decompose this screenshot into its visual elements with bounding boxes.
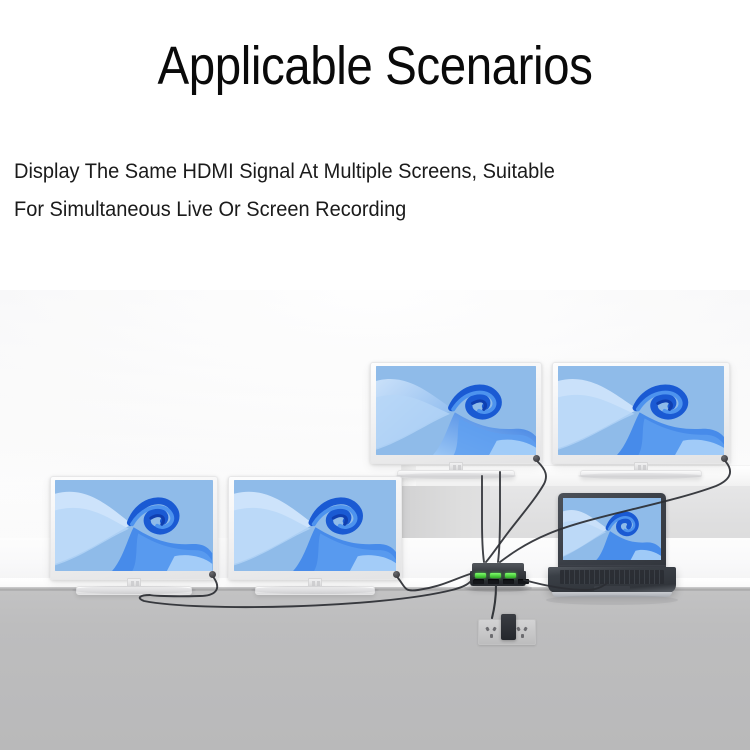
- hub-port-4[interactable]: [518, 579, 529, 584]
- laptop-keyboard[interactable]: [560, 570, 665, 584]
- floor-surface: [0, 591, 750, 750]
- monitor-hdmi-port: [393, 571, 400, 578]
- hub-led-indicators: [475, 573, 516, 578]
- monitor-screen: [558, 366, 725, 456]
- hub-port-3[interactable]: [503, 579, 514, 584]
- hdmi-splitter-hub[interactable]: [470, 563, 526, 587]
- laptop-trackpad[interactable]: [594, 586, 630, 591]
- monitor-hdmi-port: [533, 455, 540, 462]
- laptop-base: [548, 567, 676, 593]
- header-text-block: Applicable Scenarios Display The Same HD…: [0, 0, 750, 290]
- monitor-back-right[interactable]: [552, 362, 730, 464]
- monitor-hdmi-port: [721, 455, 728, 462]
- hub-body: [470, 571, 526, 586]
- hub-led-2: [490, 573, 501, 578]
- monitor-hdmi-port: [209, 571, 216, 578]
- monitor-stand-base: [255, 586, 375, 595]
- windows-bloom-wallpaper: [55, 480, 212, 572]
- source-laptop[interactable]: [548, 493, 676, 597]
- page-root: Applicable Scenarios Display The Same HD…: [0, 0, 750, 750]
- wall-power-socket[interactable]: [478, 619, 536, 645]
- monitor-screen: [55, 480, 212, 572]
- laptop-screen: [563, 498, 661, 560]
- monitor-front-left[interactable]: [50, 476, 218, 580]
- monitor-front-right[interactable]: [228, 476, 402, 580]
- monitor-stand-base: [76, 586, 192, 595]
- subtitle-line-2: For Simultaneous Live Or Screen Recordin…: [14, 190, 698, 228]
- hub-led-1: [475, 573, 486, 578]
- page-subtitle: Display The Same HDMI Signal At Multiple…: [14, 152, 698, 228]
- monitor-screen: [376, 366, 537, 456]
- laptop-front-lip: [552, 592, 672, 597]
- subtitle-line-1: Display The Same HDMI Signal At Multiple…: [14, 152, 698, 190]
- socket-outlet-right: [516, 626, 529, 639]
- windows-bloom-wallpaper: [376, 366, 537, 456]
- hub-port-1[interactable]: [473, 579, 484, 584]
- windows-bloom-wallpaper: [563, 498, 661, 560]
- laptop-lid: [558, 493, 666, 567]
- socket-outlet-left: [485, 626, 498, 639]
- power-plug[interactable]: [501, 614, 516, 640]
- windows-bloom-wallpaper: [558, 366, 725, 456]
- windows-bloom-wallpaper: [234, 480, 397, 572]
- monitor-stand-base: [397, 470, 515, 478]
- page-title: Applicable Scenarios: [45, 36, 705, 96]
- hub-output-ports[interactable]: [473, 579, 529, 584]
- product-scene-photo: [0, 290, 750, 750]
- monitor-screen: [234, 480, 397, 572]
- monitor-back-left[interactable]: [370, 362, 542, 464]
- hub-port-2[interactable]: [488, 579, 499, 584]
- hub-led-3: [505, 573, 516, 578]
- monitor-stand-base: [580, 470, 702, 478]
